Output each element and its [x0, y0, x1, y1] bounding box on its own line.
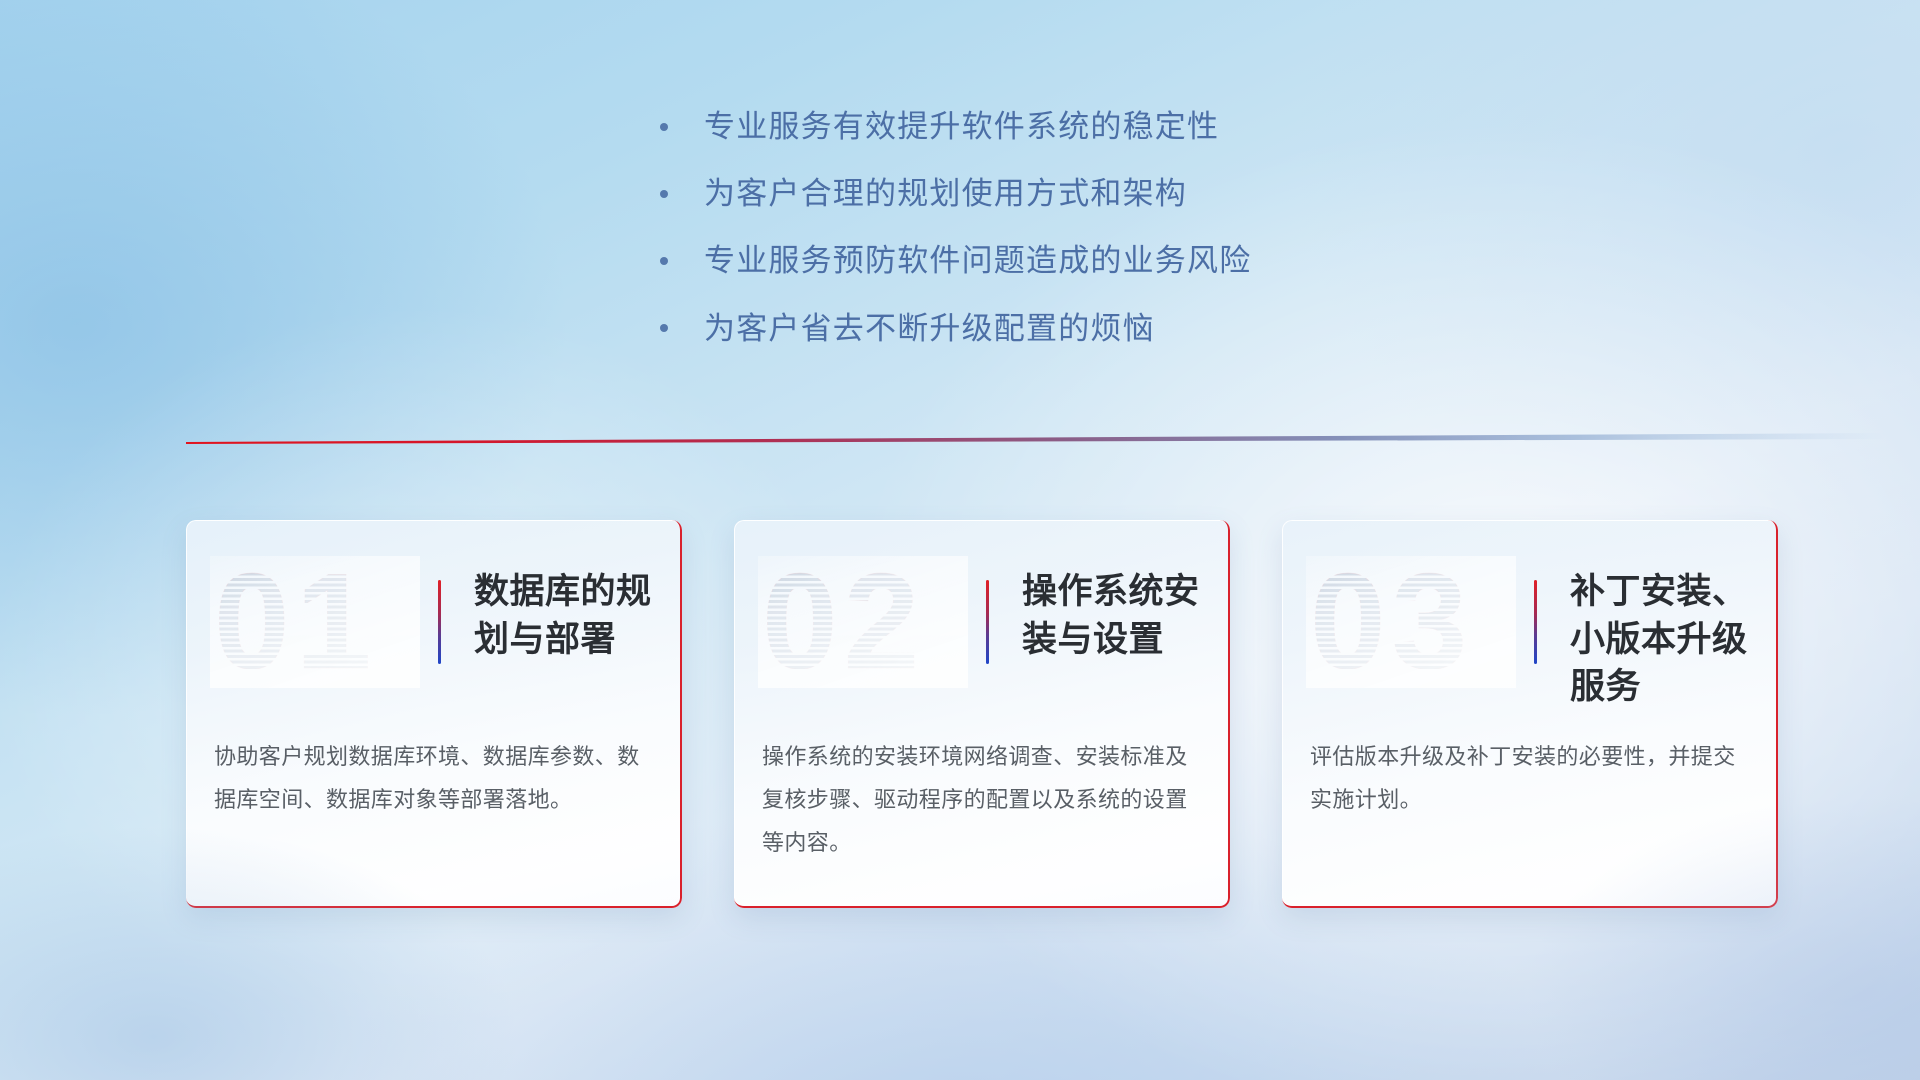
list-item: 专业服务有效提升软件系统的稳定性: [660, 108, 1251, 145]
bullet-text: 专业服务有效提升软件系统的稳定性: [704, 108, 1219, 145]
bullet-text: 专业服务预防软件问题造成的业务风险: [704, 242, 1251, 279]
list-item: 为客户合理的规划使用方式和架构: [660, 175, 1251, 212]
bullet-dot-icon: [660, 123, 668, 131]
service-card[interactable]: 01 01 数据库的规划与部署 协助客户规划数据库环境、数据库参数、数据库空间、…: [186, 520, 682, 908]
card-header: 02 02 操作系统安装与设置: [734, 520, 1230, 728]
striped-number-icon: 02 02: [758, 556, 968, 688]
list-item: 专业服务预防软件问题造成的业务风险: [660, 242, 1251, 279]
card-number-watermark: 01 01: [210, 556, 420, 688]
striped-number-icon: 03 03: [1306, 556, 1516, 688]
bullet-dot-icon: [660, 190, 668, 198]
bullet-dot-icon: [660, 324, 668, 332]
section-divider: [186, 430, 1886, 446]
striped-number-icon: 01 01: [210, 556, 420, 688]
card-header: 03 03 补丁安装、小版本升级服务: [1282, 520, 1778, 728]
card-title: 操作系统安装与设置: [1022, 568, 1218, 663]
service-card-list: 01 01 数据库的规划与部署 协助客户规划数据库环境、数据库参数、数据库空间、…: [186, 520, 1876, 908]
card-description: 操作系统的安装环境网络调查、安装标准及复核步骤、驱动程序的配置以及系统的设置等内…: [762, 736, 1200, 865]
card-number-watermark: 03 03: [1306, 556, 1516, 688]
card-number-watermark: 02 02: [758, 556, 968, 688]
bullet-dot-icon: [660, 257, 668, 265]
benefits-bullet-list: 专业服务有效提升软件系统的稳定性 为客户合理的规划使用方式和架构 专业服务预防软…: [660, 108, 1251, 347]
card-description: 协助客户规划数据库环境、数据库参数、数据库空间、数据库对象等部署落地。: [214, 736, 652, 822]
bullet-text: 为客户合理的规划使用方式和架构: [704, 175, 1187, 212]
list-item: 为客户省去不断升级配置的烦恼: [660, 310, 1251, 347]
accent-rule: [438, 580, 441, 664]
service-card[interactable]: 02 02 操作系统安装与设置 操作系统的安装环境网络调查、安装标准及复核步骤、…: [734, 520, 1230, 908]
accent-rule: [1534, 580, 1537, 664]
slide-canvas: 专业服务有效提升软件系统的稳定性 为客户合理的规划使用方式和架构 专业服务预防软…: [0, 0, 1920, 1080]
accent-rule: [986, 580, 989, 664]
card-title: 补丁安装、小版本升级服务: [1570, 568, 1766, 711]
service-card[interactable]: 03 03 补丁安装、小版本升级服务 评估版本升级及补丁安装的必要性，并提交实施…: [1282, 520, 1778, 908]
bullet-text: 为客户省去不断升级配置的烦恼: [704, 310, 1155, 347]
card-header: 01 01 数据库的规划与部署: [186, 520, 682, 728]
card-description: 评估版本升级及补丁安装的必要性，并提交实施计划。: [1310, 736, 1748, 822]
card-title: 数据库的规划与部署: [474, 568, 670, 663]
tapered-divider-icon: [186, 430, 1886, 446]
